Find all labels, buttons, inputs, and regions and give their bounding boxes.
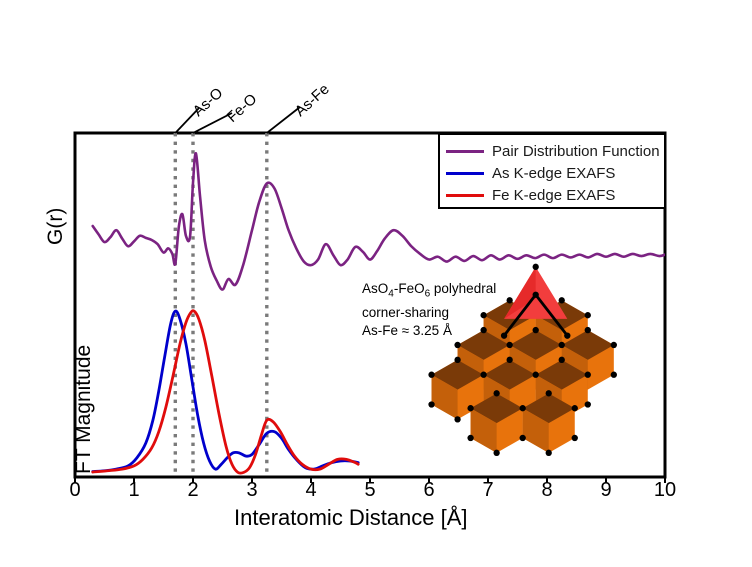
- inset-note-aso: AsO: [362, 281, 388, 296]
- x-tick-label: 6: [414, 479, 444, 502]
- x-tick-label: 0: [60, 479, 90, 502]
- x-tick-label: 1: [119, 479, 149, 502]
- legend-item[interactable]: Pair Distribution Function: [446, 140, 664, 162]
- legend-label-fe: Fe K-edge EXAFS: [492, 187, 615, 204]
- legend-label-pdf: Pair Distribution Function: [492, 143, 660, 160]
- y-axis-label-gr: G(r): [44, 208, 68, 245]
- legend-swatch-fe: [446, 194, 484, 197]
- legend-item[interactable]: As K-edge EXAFS: [446, 162, 664, 184]
- legend: Pair Distribution Function As K-edge EXA…: [438, 133, 666, 209]
- x-axis-label: Interatomic Distance [Å]: [234, 505, 468, 531]
- x-tick-label: 7: [473, 479, 503, 502]
- x-tick-label: 8: [532, 479, 562, 502]
- figure-root: G(r) FT Magnitude Interatomic Distance […: [0, 0, 752, 567]
- x-tick-label: 10: [650, 479, 680, 502]
- x-tick-label: 9: [591, 479, 621, 502]
- inset-note-line-3: As-Fe ≈ 3.25 Å: [362, 322, 496, 340]
- legend-swatch-pdf: [446, 150, 484, 153]
- legend-label-as: As K-edge EXAFS: [492, 165, 615, 182]
- x-tick-label: 5: [355, 479, 385, 502]
- x-tick-label: 4: [296, 479, 326, 502]
- inset-note-feo: -FeO: [394, 281, 425, 296]
- legend-item[interactable]: Fe K-edge EXAFS: [446, 184, 664, 206]
- legend-swatch-as: [446, 172, 484, 175]
- y-axis-label-ft-magnitude: FT Magnitude: [72, 345, 96, 474]
- x-tick-label: 2: [178, 479, 208, 502]
- inset-note-line-2: corner-sharing: [362, 304, 496, 322]
- inset-note-line-1: AsO4-FeO6 polyhedral: [362, 280, 496, 304]
- x-tick-label: 3: [237, 479, 267, 502]
- inset-note-polyhedral: polyhedral: [430, 281, 496, 296]
- inset-annotation-text: AsO4-FeO6 polyhedral corner-sharing As-F…: [362, 280, 496, 340]
